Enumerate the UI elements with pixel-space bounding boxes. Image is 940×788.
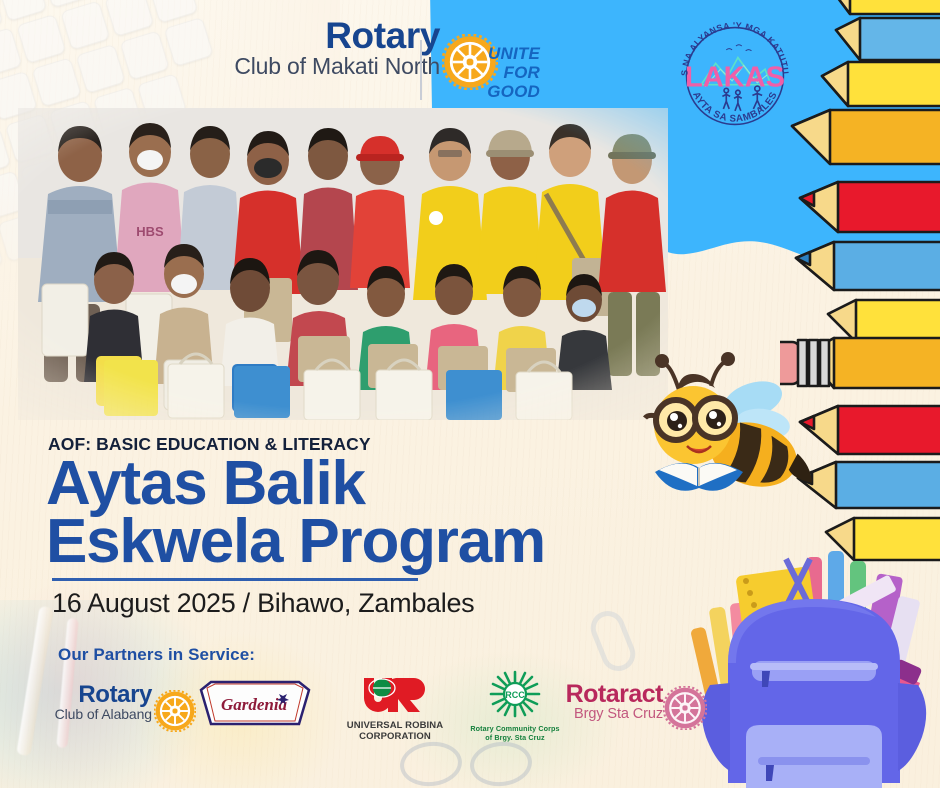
svg-text:HBS: HBS: [136, 224, 164, 239]
urc-label-line-1: UNIVERSAL ROBINA: [335, 720, 455, 731]
laka-center-text: LAKAS: [685, 62, 785, 94]
urc-label-line-2: CORPORATION: [335, 731, 455, 742]
rcc-label-line-2: of Brgy. Sta Cruz: [455, 734, 575, 743]
tagline-line-2: FOR: [440, 63, 540, 82]
partner-logos-row: Rotary Club of Alabang: [40, 668, 720, 746]
unite-for-good-tagline: UNITE FOR GOOD: [440, 44, 540, 101]
partner-universal-robina-corporation[interactable]: UNIVERSAL ROBINA CORPORATION: [335, 674, 455, 742]
header-divider: [420, 40, 422, 100]
tagline-line-1: UNITE: [440, 44, 540, 63]
title-line-1: Aytas Balik: [46, 455, 706, 513]
gardenia-wordmark: Gardenia: [221, 695, 288, 714]
rcc-abbr: RCC: [505, 690, 525, 700]
poster-canvas: Rotary Club of Makati North: [0, 0, 940, 788]
rotary-brand-word: Rotary: [110, 18, 440, 53]
title-underline-rule: [52, 578, 418, 581]
school-backpack-icon: [688, 545, 940, 788]
urc-monogram-icon: [360, 674, 430, 714]
date-location-text: 16 August 2025 / Bihawo, Zambales: [52, 588, 474, 619]
partner-rotaract-brgy-sta-cruz[interactable]: Rotaract Brgy Sta Cruz: [545, 682, 663, 722]
partner-word: Rotaract: [545, 682, 663, 707]
group-photo-illustration: HBS: [18, 108, 668, 420]
tagline-line-3: GOOD: [440, 82, 540, 101]
rotary-header: Rotary Club of Makati North: [110, 18, 440, 98]
partner-sub: Brgy Sta Cruz: [545, 707, 663, 723]
partner-gardenia[interactable]: Gardenia: [195, 680, 313, 733]
partners-label: Our Partners in Service:: [58, 645, 255, 665]
rotary-club-name: Club of Makati North: [110, 53, 440, 79]
rotaract-wheel-icon: [663, 686, 707, 730]
rcc-starburst-icon: RCC: [484, 670, 546, 718]
partner-word: Rotary: [40, 684, 152, 707]
group-photo: HBS: [18, 108, 668, 420]
partner-rotary-club-of-alabang[interactable]: Rotary Club of Alabang: [40, 684, 152, 722]
page-title: Aytas Balik Eskwela Program: [46, 455, 706, 572]
rotary-wheel-icon: [154, 690, 196, 732]
gardenia-ribbon-logo: Gardenia: [195, 680, 313, 728]
title-line-2: Eskwela Program: [46, 513, 706, 571]
partner-sub: Club of Alabang: [40, 707, 152, 722]
